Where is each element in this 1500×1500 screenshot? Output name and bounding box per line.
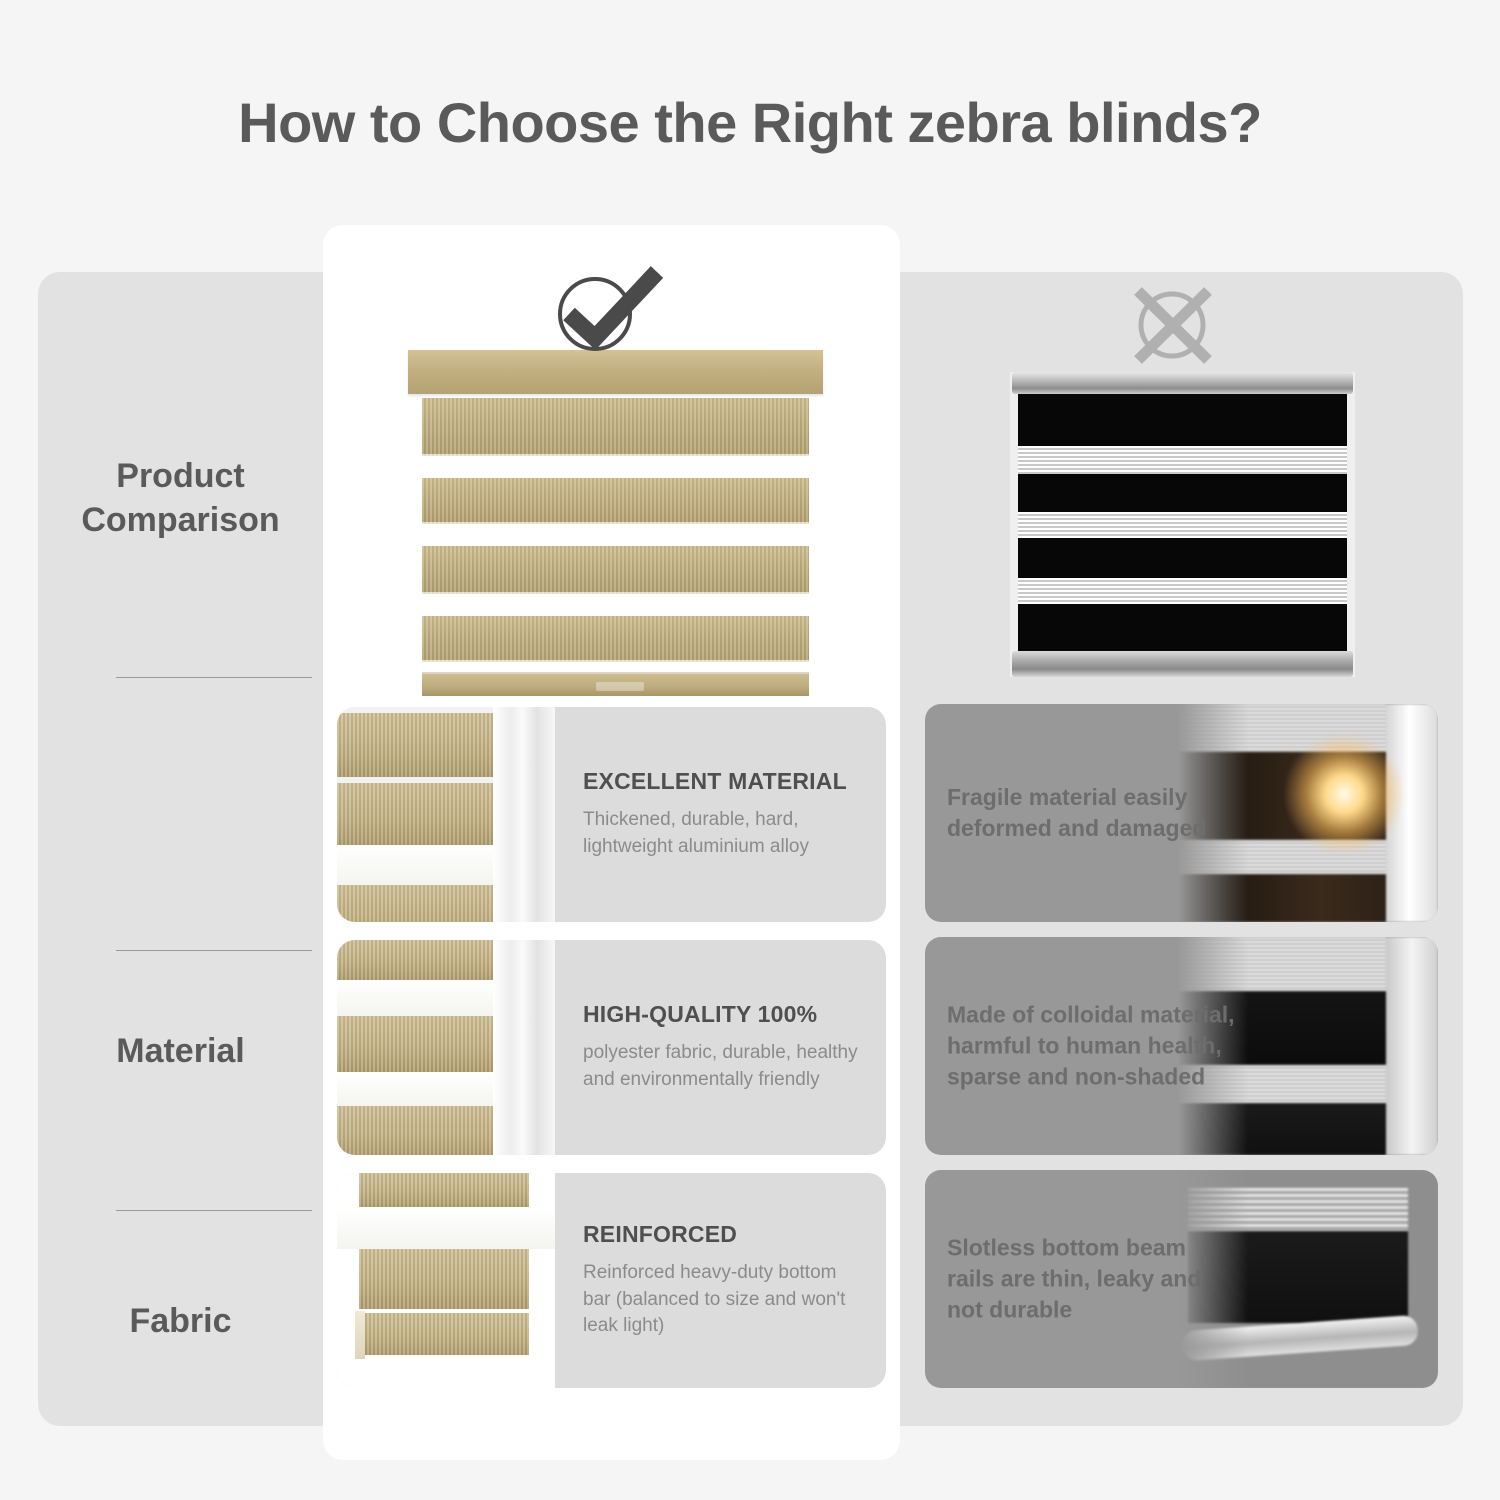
good-card-material-body: Thickened, durable, hard, lightweight al…	[583, 807, 866, 861]
good-hero-image	[408, 350, 823, 695]
blind-bottom-bar	[422, 672, 809, 696]
bad-card-material: Fragile material easily deformed and dam…	[925, 704, 1438, 922]
bad-card-fabric-body: Made of colloidal material, harmful to h…	[947, 999, 1237, 1092]
bad-card-material-body: Fragile material easily deformed and dam…	[947, 782, 1237, 844]
good-card-bottom-beam-image	[337, 1173, 555, 1388]
comparison-infographic: How to Choose the Right zebra blinds? Pr…	[0, 0, 1500, 1500]
checkmark-circle-icon	[545, 262, 670, 357]
bad-card-fabric: Made of colloidal material, harmful to h…	[925, 937, 1438, 1155]
blind-slat	[422, 478, 809, 524]
good-card-fabric-image	[337, 940, 555, 1155]
blind-headrail	[1012, 372, 1353, 394]
blind-bottom-bar	[1012, 651, 1353, 677]
cross-circle-icon	[1120, 282, 1225, 367]
sidebar-divider-1	[116, 677, 312, 678]
good-product-column: EXCELLENT MATERIAL Thickened, durable, h…	[323, 225, 900, 1460]
good-card-material-image	[337, 707, 555, 922]
good-card-bottom-beam: REINFORCED Reinforced heavy-duty bottom …	[337, 1173, 886, 1388]
bad-hero-image	[1010, 372, 1355, 677]
sidebar-divider-3	[116, 1210, 312, 1211]
sidebar-row-material: Material	[38, 1017, 323, 1087]
page-title: How to Choose the Right zebra blinds?	[0, 90, 1500, 155]
blind-slat	[422, 398, 809, 456]
bad-product-column: Fragile material easily deformed and dam…	[900, 272, 1463, 1426]
good-card-fabric-body: polyester fabric, durable, healthy and e…	[583, 1040, 866, 1094]
category-sidebar: Product Comparison Material Fabric Botto…	[38, 272, 323, 1426]
sidebar-row-product-comparison: Product Comparison	[38, 434, 323, 564]
blind-body	[1018, 394, 1347, 651]
blind-slat	[422, 616, 809, 662]
blind-slat	[422, 546, 809, 594]
good-card-bottom-beam-heading: REINFORCED	[583, 1221, 866, 1248]
good-card-material: EXCELLENT MATERIAL Thickened, durable, h…	[337, 707, 886, 922]
bad-card-bottom-beam-body: Slotless bottom beam rails are thin, lea…	[947, 1232, 1237, 1325]
good-card-fabric: HIGH-QUALITY 100% polyester fabric, dura…	[337, 940, 886, 1155]
good-card-bottom-beam-body: Reinforced heavy-duty bottom bar (balanc…	[583, 1260, 866, 1341]
good-card-material-heading: EXCELLENT MATERIAL	[583, 768, 866, 795]
sidebar-divider-2	[116, 950, 312, 951]
good-card-fabric-heading: HIGH-QUALITY 100%	[583, 1001, 866, 1028]
sidebar-row-fabric: Fabric	[38, 1287, 323, 1357]
bad-card-bottom-beam: Slotless bottom beam rails are thin, lea…	[925, 1170, 1438, 1388]
